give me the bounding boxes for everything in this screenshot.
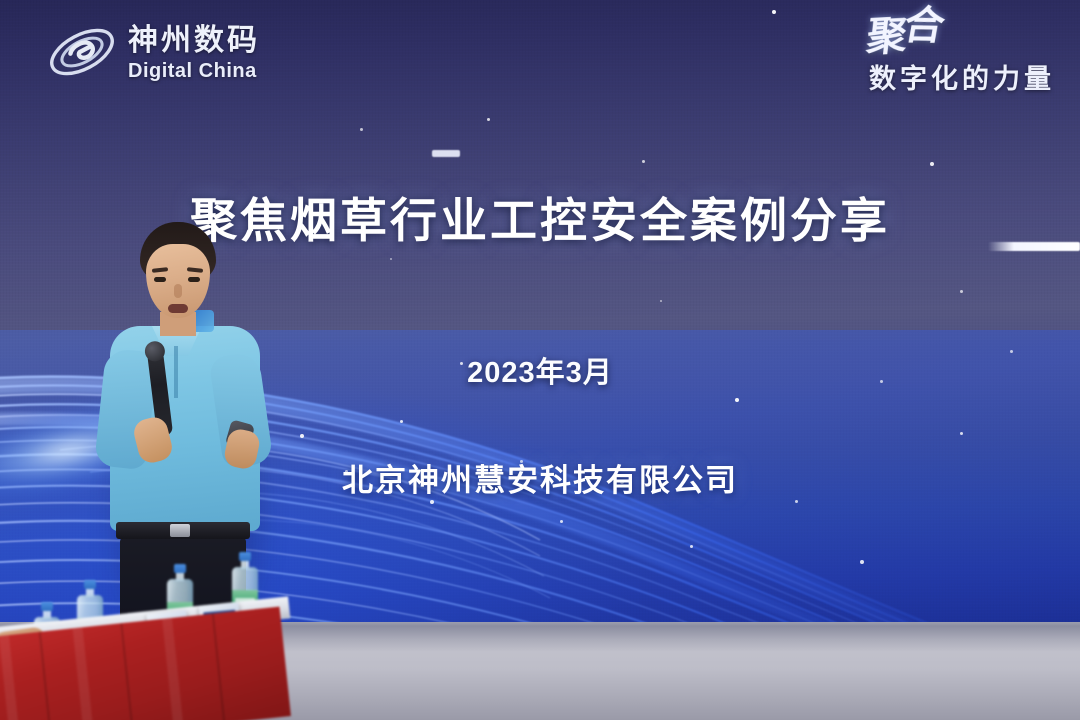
decorative-dash-top (432, 150, 460, 157)
skirt-highlight (0, 635, 20, 720)
bottle-cap (174, 564, 186, 573)
bottle-cap (239, 552, 251, 561)
event-tagline: 数字化的力量 (867, 57, 1055, 96)
presenter-nose (174, 284, 182, 298)
presenter-belt-buckle (170, 524, 190, 537)
skirt-highlight (73, 627, 94, 720)
event-calligraphy: 聚合 (865, 16, 941, 57)
spiral-galaxy-logo-icon (45, 22, 119, 82)
brand-name-cn: 神州数码 (128, 26, 260, 56)
event-calligraphy-char-2: 合 (901, 8, 943, 45)
presenter-shirt-placket (174, 346, 178, 398)
presenter-eye-right (188, 277, 200, 282)
conference-stage-photo: 神州数码 Digital China 聚合 数字化的力量 聚焦烟草行业工控安全案… (0, 0, 1080, 720)
skirt-highlight (162, 618, 183, 720)
presenter-eye-left (154, 277, 166, 282)
digital-china-logo: 神州数码 Digital China (45, 22, 260, 82)
event-calligraphy-char-1: 聚 (864, 12, 905, 61)
presenter-mouth (168, 304, 188, 313)
brand-name-en: Digital China (128, 61, 260, 81)
skirt-fold (39, 632, 52, 720)
bottle-cap (41, 602, 53, 611)
skirt-fold (212, 614, 225, 720)
bottle-cap (84, 580, 96, 589)
foreground-panel-table-area (0, 560, 300, 720)
event-logo: 聚合 数字化的力量 (867, 18, 1055, 96)
skirt-fold (120, 623, 133, 720)
